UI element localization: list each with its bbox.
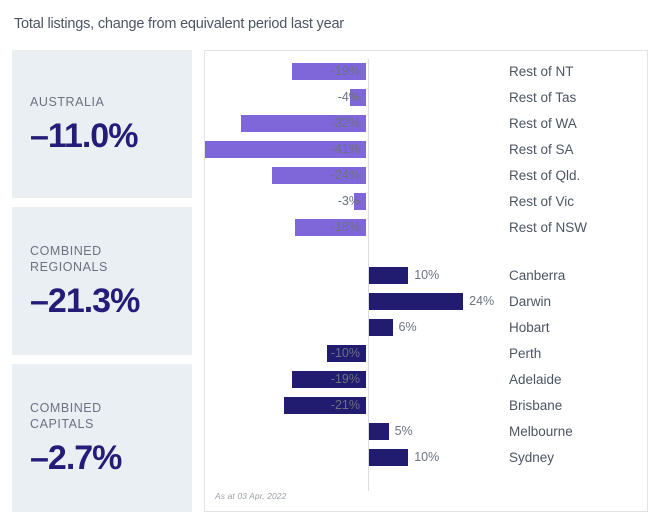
bar-row: 5%Melbourne xyxy=(205,419,647,445)
bar-row: -3%Rest of Vic xyxy=(205,189,647,215)
bar-group-capitals: 10%Canberra24%Darwin6%Hobart-10%Perth-19… xyxy=(205,263,647,471)
bar-category-label: Rest of Tas xyxy=(509,89,576,106)
bar xyxy=(369,319,393,336)
bar-category-label: Rest of Vic xyxy=(509,193,574,210)
bar-category-label: Canberra xyxy=(509,267,565,284)
summary-card-australia: AUSTRALIA –11.0% xyxy=(12,50,192,198)
bar-value-label: 5% xyxy=(389,423,413,440)
summary-card-label: COMBINED CAPITALS xyxy=(30,400,174,432)
bar-value-label: -24% xyxy=(331,167,366,184)
bar-category-label: Hobart xyxy=(509,319,550,336)
bar-value-label: 24% xyxy=(463,293,494,310)
bar-row: -24%Rest of Qld. xyxy=(205,163,647,189)
bar xyxy=(369,449,408,466)
bar-value-label: 10% xyxy=(408,449,439,466)
bar-value-label: -32% xyxy=(331,115,366,132)
bar-row: 10%Sydney xyxy=(205,445,647,471)
bar-value-label: -41% xyxy=(331,141,366,158)
chart-panel: -19%Rest of NT-4%Rest of Tas-32%Rest of … xyxy=(204,50,648,512)
bar-category-label: Rest of WA xyxy=(509,115,577,132)
bar-value-wrapper: -10% xyxy=(327,341,366,367)
bar xyxy=(369,423,389,440)
bar-value-label: -18% xyxy=(331,219,366,236)
bar xyxy=(369,293,463,310)
bar-row: -10%Perth xyxy=(205,341,647,367)
bar xyxy=(369,267,408,284)
bar-value-label: -19% xyxy=(331,371,366,388)
bar-row: -21%Brisbane xyxy=(205,393,647,419)
bar-category-label: Rest of NSW xyxy=(509,219,587,236)
bar-value-wrapper: -21% xyxy=(284,393,366,419)
bar-value-label: -19% xyxy=(331,63,366,80)
bar-value-label: 6% xyxy=(393,319,417,336)
bar-category-label: Sydney xyxy=(509,449,554,466)
bar-row: -19%Rest of NT xyxy=(205,59,647,85)
bar-row: -18%Rest of NSW xyxy=(205,215,647,241)
bar-value-label: -3% xyxy=(338,193,366,210)
bar-value-label: -21% xyxy=(331,397,366,414)
bar-category-label: Melbourne xyxy=(509,423,573,440)
page-title: Total listings, change from equivalent p… xyxy=(14,16,344,32)
bar-value-wrapper: -4% xyxy=(350,85,366,111)
bar-value-wrapper: -3% xyxy=(354,189,366,215)
bar-value-wrapper: -19% xyxy=(292,367,366,393)
bar-category-label: Perth xyxy=(509,345,541,362)
bar-row: -32%Rest of WA xyxy=(205,111,647,137)
chart-footnote: As at 03 Apr, 2022 xyxy=(215,491,286,501)
bar-row: 24%Darwin xyxy=(205,289,647,315)
bar-category-label: Rest of Qld. xyxy=(509,167,580,184)
summary-card-value: –2.7% xyxy=(30,440,174,476)
summary-card-value: –11.0% xyxy=(30,118,174,154)
bar-category-label: Rest of NT xyxy=(509,63,574,80)
bar-value-label: 10% xyxy=(408,267,439,284)
bar-row: 10%Canberra xyxy=(205,263,647,289)
bar-row: -4%Rest of Tas xyxy=(205,85,647,111)
bar-row: -41%Rest of SA xyxy=(205,137,647,163)
summary-card-combined-capitals: COMBINED CAPITALS –2.7% xyxy=(12,364,192,512)
bar-value-wrapper: -24% xyxy=(272,163,366,189)
summary-card-combined-regionals: COMBINED REGIONALS –21.3% xyxy=(12,207,192,355)
bar-row: 6%Hobart xyxy=(205,315,647,341)
bar-category-label: Brisbane xyxy=(509,397,562,414)
bar-category-label: Rest of SA xyxy=(509,141,574,158)
bar-value-label: -10% xyxy=(331,345,366,362)
summary-cards-panel: AUSTRALIA –11.0% COMBINED REGIONALS –21.… xyxy=(12,50,192,512)
bar-value-wrapper: -18% xyxy=(295,215,366,241)
bar-value-wrapper: -32% xyxy=(241,111,366,137)
bar-category-label: Adelaide xyxy=(509,371,562,388)
bar-row: -19%Adelaide xyxy=(205,367,647,393)
plot-area: -19%Rest of NT-4%Rest of Tas-32%Rest of … xyxy=(205,51,647,511)
summary-card-label: COMBINED REGIONALS xyxy=(30,243,174,275)
summary-card-value: –21.3% xyxy=(30,283,174,319)
bar-value-wrapper: -41% xyxy=(205,137,366,163)
bar-value-wrapper: -19% xyxy=(292,59,366,85)
bar-category-label: Darwin xyxy=(509,293,551,310)
bar-group-regionals: -19%Rest of NT-4%Rest of Tas-32%Rest of … xyxy=(205,59,647,241)
summary-card-label: AUSTRALIA xyxy=(30,94,174,110)
bar-value-label: -4% xyxy=(338,89,366,106)
